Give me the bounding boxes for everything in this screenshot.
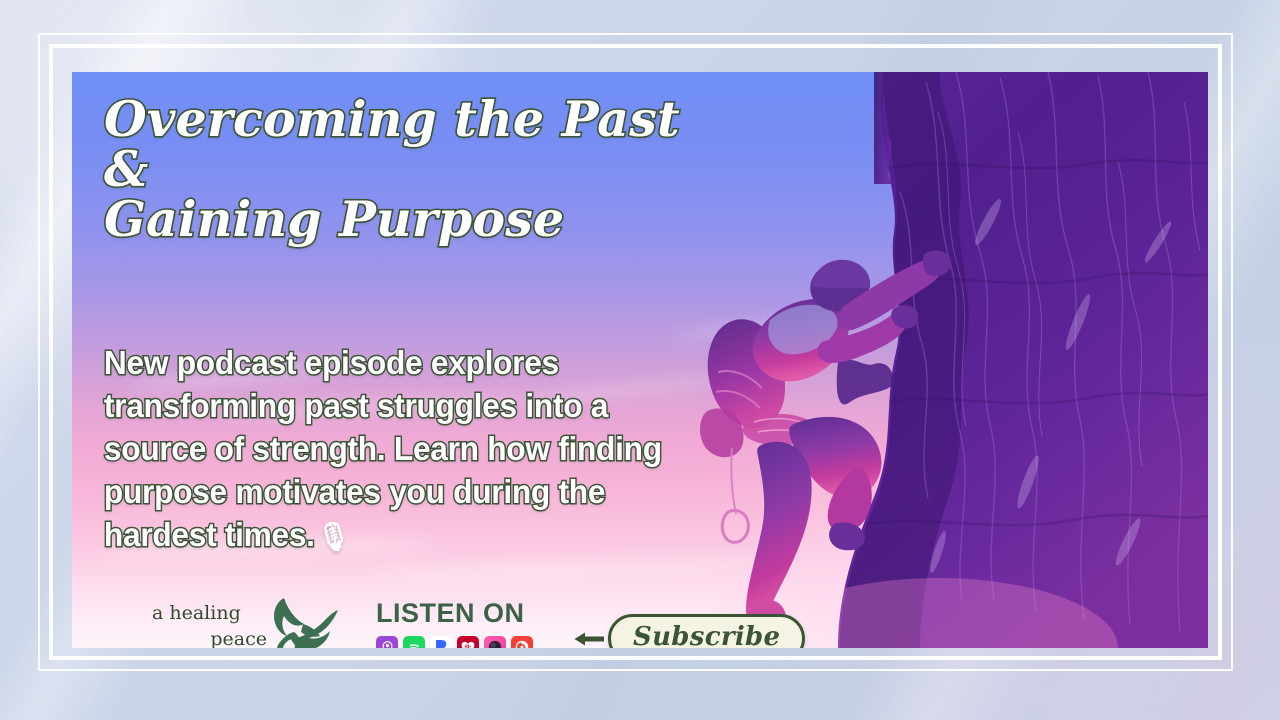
- description-text: New podcast episode explores transformin…: [104, 344, 662, 553]
- iheartradio-icon[interactable]: [457, 636, 479, 648]
- rock-ledge: [837, 359, 894, 404]
- footer-bar: a healing peace Podcast LISTEN ON: [144, 592, 784, 648]
- dove-bird-icon: [254, 592, 340, 648]
- logo-line-2: peace: [152, 626, 267, 648]
- content-area: Overcoming the Past & Gaining Purpose Ne…: [102, 94, 762, 634]
- poster-canvas: Overcoming the Past & Gaining Purpose Ne…: [0, 0, 1280, 720]
- logo-wordmark-lines: a healing peace: [152, 600, 267, 648]
- spotify-icon[interactable]: [403, 636, 425, 648]
- arrow-left-icon: [572, 628, 606, 648]
- subscribe-button[interactable]: Subscribe: [608, 614, 805, 648]
- listen-on-heading: LISTEN ON: [376, 598, 566, 629]
- cliff-scene: [688, 72, 1208, 648]
- pocket-casts-icon[interactable]: [511, 636, 533, 648]
- photo-card: Overcoming the Past & Gaining Purpose Ne…: [72, 72, 1208, 648]
- cliff-illustration: [688, 72, 1208, 648]
- microphone-icon: 🎙: [317, 521, 351, 552]
- episode-description: New podcast episode explores transformin…: [102, 341, 714, 558]
- listen-on-section: LISTEN ON: [376, 592, 566, 648]
- platform-icons-row-1: [376, 636, 566, 648]
- subscribe-area: Subscribe: [572, 614, 805, 648]
- brand-logo[interactable]: a healing peace Podcast: [144, 592, 354, 648]
- apple-podcasts-icon[interactable]: [376, 636, 398, 648]
- logo-line-1: a healing: [152, 600, 267, 626]
- pandora-icon[interactable]: [430, 636, 452, 648]
- page-title: Overcoming the Past & Gaining Purpose: [102, 94, 714, 244]
- overcast-icon[interactable]: [484, 636, 506, 648]
